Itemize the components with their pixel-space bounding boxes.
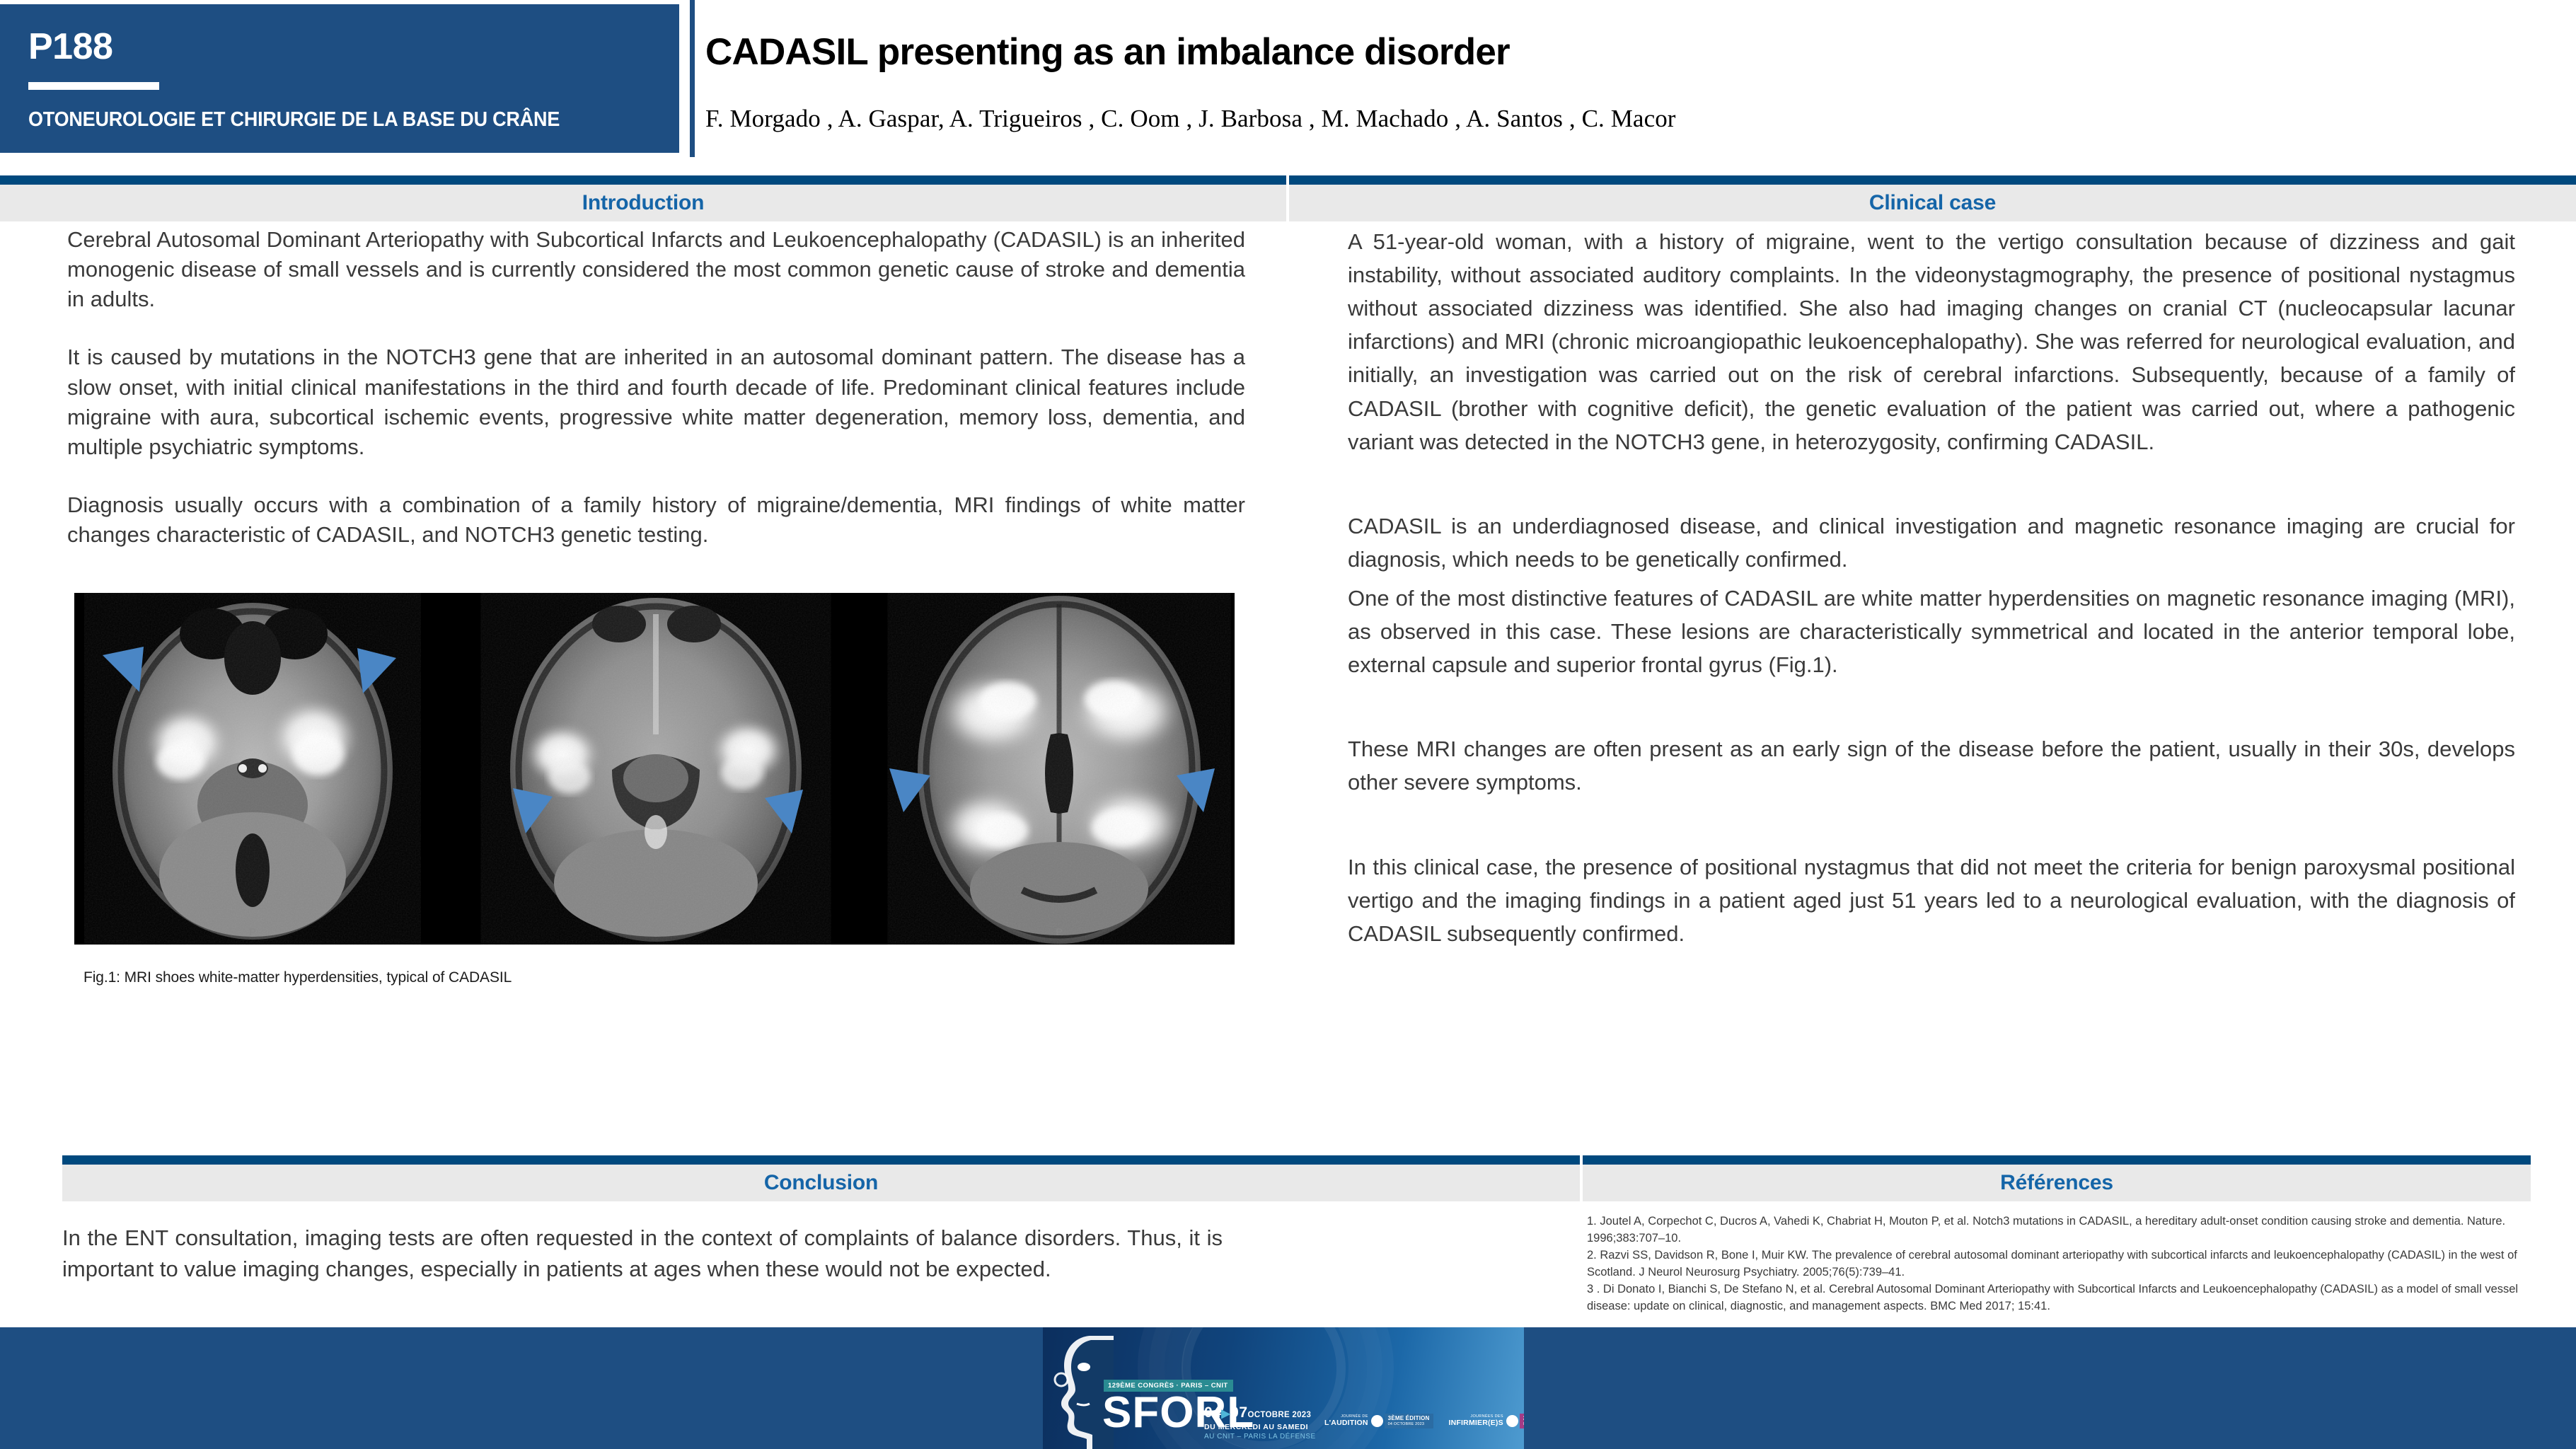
poster-title-zone: CADASIL presenting as an imbalance disor… <box>690 0 2576 157</box>
badge-infirmiers: JOURNÉES DES INFIRMIER(E)S 30ÈME ÉDITION… <box>1449 1414 1524 1428</box>
poster-page: P188 OTONEUROLOGIE ET CHIRURGIE DE LA BA… <box>0 0 2576 1449</box>
poster-header: P188 OTONEUROLOGIE ET CHIRURGIE DE LA BA… <box>0 0 2576 157</box>
figure-caption: Fig.1: MRI shoes white-matter hyperdensi… <box>83 969 512 986</box>
introduction-band-rule <box>0 175 1286 185</box>
mri-image: P P <box>74 593 1235 945</box>
introduction-title: Introduction <box>582 191 705 215</box>
badge-audition-pill: 3ÈME ÉDITION 04 OCTOBRE 2023 <box>1385 1414 1433 1428</box>
badge-audition-date: 04 OCTOBRE 2023 <box>1388 1422 1430 1426</box>
badge-infirmiers-date: 06 ET 07 OCTOBRE 2023 <box>1523 1422 1524 1426</box>
badge-infirmiers-pill: 30ÈME ÉDITION 06 ET 07 OCTOBRE 2023 <box>1520 1414 1524 1428</box>
conclusion-title: Conclusion <box>764 1171 878 1195</box>
introduction-paragraph-1: Cerebral Autosomal Dominant Arteriopathy… <box>67 225 1245 314</box>
congress-date-block: 04▶07OCTOBRE 2023 DU MERCREDI AU SAMEDI … <box>1204 1405 1316 1441</box>
date-end: 07 <box>1230 1404 1247 1421</box>
footer-bar: 129ÈME CONGRÈS · PARIS – CNIT SFORL 04▶0… <box>0 1327 2576 1449</box>
author-list: F. Morgado , A. Gaspar, A. Trigueiros , … <box>705 105 2576 133</box>
clinical-case-column: A 51-year-old woman, with a history of m… <box>1348 225 2515 981</box>
poster-id-code: P188 <box>28 28 651 65</box>
badge-infirmiers-name: INFIRMIER(E)S <box>1449 1419 1503 1427</box>
clinical-case-paragraph-1: A 51-year-old woman, with a history of m… <box>1348 225 2515 458</box>
ear-icon <box>1371 1415 1383 1427</box>
satellite-events: JOURNÉE DE L'AUDITION 3ÈME ÉDITION 04 OC… <box>1324 1414 1524 1428</box>
poster-id-block: P188 OTONEUROLOGIE ET CHIRURGIE DE LA BA… <box>0 4 683 153</box>
clinical-case-paragraph-2: CADASIL is an underdiagnosed disease, an… <box>1348 509 2515 576</box>
conclusion-band-rule <box>62 1155 1580 1165</box>
sforl-congress-banner: 129ÈME CONGRÈS · PARIS – CNIT SFORL 04▶0… <box>1043 1327 1524 1449</box>
mri-figure: P P <box>74 593 1235 945</box>
mri-panel-3: P <box>916 596 1202 944</box>
svg-text:P: P <box>652 926 659 937</box>
section-header-introduction: Introduction <box>0 185 1286 221</box>
conclusion-text: In the ENT consultation, imaging tests a… <box>62 1223 1223 1285</box>
date-weekday-span: DU MERCREDI AU SAMEDI <box>1204 1423 1316 1431</box>
section-header-conclusion: Conclusion <box>62 1165 1580 1201</box>
clinical-case-paragraph-3: One of the most distinctive features of … <box>1348 582 2515 681</box>
mri-panel-2: P <box>510 598 802 942</box>
venue-label: AU CNIT – PARIS LA DÉFENSE <box>1204 1433 1316 1441</box>
reference-item: 1. Joutel A, Corpechot C, Ducros A, Vahe… <box>1587 1213 2531 1247</box>
badge-audition: JOURNÉE DE L'AUDITION 3ÈME ÉDITION 04 OC… <box>1324 1414 1433 1428</box>
clinical-case-title: Clinical case <box>1869 191 1996 215</box>
mri-panel-1: P <box>112 603 393 940</box>
poster-category-label: OTONEUROLOGIE ET CHIRURGIE DE LA BASE DU… <box>28 108 607 132</box>
introduction-paragraph-3: Diagnosis usually occurs with a combinat… <box>67 490 1245 550</box>
congress-dates: 04▶07OCTOBRE 2023 <box>1204 1405 1316 1420</box>
badge-infirmiers-edition: 30ÈME ÉDITION <box>1523 1416 1524 1422</box>
badge-audition-label: JOURNÉE DE L'AUDITION <box>1324 1415 1368 1427</box>
reference-item: 3 . Di Donato I, Bianchi S, De Stefano N… <box>1587 1281 2531 1315</box>
clinical-case-band-rule <box>1289 175 2576 185</box>
introduction-paragraph-2: It is caused by mutations in the NOTCH3 … <box>67 342 1245 462</box>
date-month: OCTOBRE 2023 <box>1248 1411 1312 1419</box>
date-start: 04 <box>1204 1404 1221 1421</box>
section-header-references: Références <box>1583 1165 2531 1201</box>
clinical-case-paragraph-5: In this clinical case, the presence of p… <box>1348 850 2515 950</box>
badge-infirmiers-label: JOURNÉES DES INFIRMIER(E)S <box>1449 1415 1503 1427</box>
clinical-case-paragraph-4: These MRI changes are often present as a… <box>1348 732 2515 799</box>
section-header-clinical-case: Clinical case <box>1289 185 2576 221</box>
references-list: 1. Joutel A, Corpechot C, Ducros A, Vahe… <box>1587 1213 2531 1316</box>
date-arrow-icon: ▶ <box>1221 1408 1230 1420</box>
svg-text:P: P <box>249 926 255 937</box>
references-title: Références <box>2000 1171 2113 1195</box>
reference-item: 2. Razvi SS, Davidson R, Bone I, Muir KW… <box>1587 1247 2531 1281</box>
svg-text:P: P <box>1056 926 1062 937</box>
page-title: CADASIL presenting as an imbalance disor… <box>705 33 2576 72</box>
introduction-column: Cerebral Autosomal Dominant Arteriopathy… <box>67 225 1245 578</box>
badge-audition-name: L'AUDITION <box>1324 1419 1368 1427</box>
nurse-icon <box>1506 1415 1518 1427</box>
poster-id-divider <box>28 82 159 90</box>
references-band-rule <box>1583 1155 2531 1165</box>
badge-audition-edition: 3ÈME ÉDITION <box>1388 1416 1430 1422</box>
